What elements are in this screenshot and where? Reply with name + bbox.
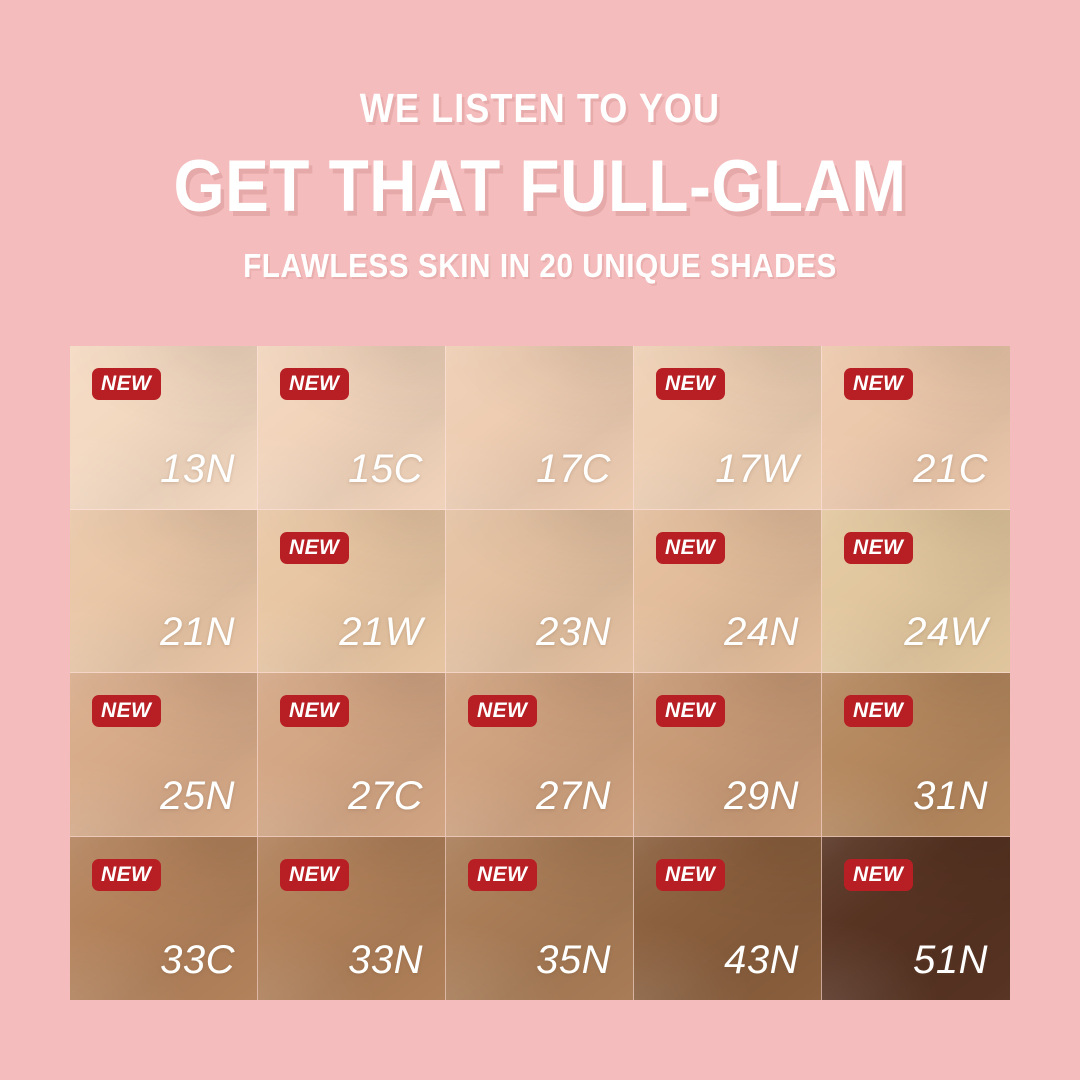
shade-swatch[interactable]: NEW25N	[70, 673, 258, 837]
shade-swatch[interactable]: NEW33N	[258, 837, 446, 1001]
new-badge: NEW	[656, 859, 725, 891]
shade-swatch[interactable]: NEW15C	[258, 346, 446, 510]
shade-swatch[interactable]: NEW51N	[822, 837, 1010, 1001]
shade-code-label: 24N	[724, 612, 799, 652]
new-badge: NEW	[280, 695, 349, 727]
page-title: GET THAT FULL-GLAM	[54, 150, 1026, 223]
shade-swatch[interactable]: NEW31N	[822, 673, 1010, 837]
new-badge: NEW	[468, 695, 537, 727]
shade-swatch[interactable]: NEW29N	[634, 673, 822, 837]
shade-swatch[interactable]: 21N	[70, 510, 258, 674]
shade-swatch[interactable]: NEW27N	[446, 673, 634, 837]
shade-swatch[interactable]: NEW21C	[822, 346, 1010, 510]
shade-code-label: 51N	[913, 940, 988, 980]
shade-swatch[interactable]: NEW24N	[634, 510, 822, 674]
shade-code-label: 33N	[348, 940, 423, 980]
shade-code-label: 25N	[160, 776, 235, 816]
shade-grid: NEW13NNEW15C17CNEW17WNEW21C21NNEW21W23NN…	[70, 346, 1010, 1000]
new-badge: NEW	[92, 368, 161, 400]
shade-swatch[interactable]: NEW13N	[70, 346, 258, 510]
shade-swatch[interactable]: NEW21W	[258, 510, 446, 674]
shade-code-label: 27C	[348, 776, 423, 816]
shade-code-label: 35N	[536, 940, 611, 980]
shade-code-label: 15C	[348, 449, 423, 489]
new-badge: NEW	[844, 368, 913, 400]
subtitle-text: FLAWLESS SKIN IN 20 UNIQUE SHADES	[54, 249, 1026, 282]
shade-code-label: 21C	[913, 449, 988, 489]
new-badge: NEW	[280, 859, 349, 891]
shade-code-label: 27N	[536, 776, 611, 816]
shade-code-label: 17C	[536, 449, 611, 489]
shade-code-label: 21W	[339, 612, 423, 652]
shade-code-label: 21N	[160, 612, 235, 652]
new-badge: NEW	[280, 368, 349, 400]
promo-header: WE LISTEN TO YOU GET THAT FULL-GLAM FLAW…	[0, 0, 1080, 282]
shade-code-label: 33C	[160, 940, 235, 980]
shade-swatch[interactable]: NEW33C	[70, 837, 258, 1001]
shade-code-label: 17W	[715, 449, 799, 489]
eyebrow-text: WE LISTEN TO YOU	[65, 88, 1015, 129]
shade-swatch[interactable]: 23N	[446, 510, 634, 674]
shade-swatch[interactable]: 17C	[446, 346, 634, 510]
shade-swatch[interactable]: NEW17W	[634, 346, 822, 510]
shade-swatch[interactable]: NEW35N	[446, 837, 634, 1001]
new-badge: NEW	[844, 695, 913, 727]
new-badge: NEW	[280, 532, 349, 564]
new-badge: NEW	[844, 532, 913, 564]
shade-code-label: 13N	[160, 449, 235, 489]
new-badge: NEW	[92, 859, 161, 891]
new-badge: NEW	[844, 859, 913, 891]
shade-code-label: 43N	[724, 940, 799, 980]
shade-code-label: 24W	[904, 612, 988, 652]
new-badge: NEW	[656, 695, 725, 727]
new-badge: NEW	[468, 859, 537, 891]
new-badge: NEW	[92, 695, 161, 727]
shade-swatch[interactable]: NEW43N	[634, 837, 822, 1001]
new-badge: NEW	[656, 532, 725, 564]
shade-swatch[interactable]: NEW27C	[258, 673, 446, 837]
shade-code-label: 31N	[913, 776, 988, 816]
shade-code-label: 23N	[536, 612, 611, 652]
shade-code-label: 29N	[724, 776, 799, 816]
new-badge: NEW	[656, 368, 725, 400]
shade-swatch[interactable]: NEW24W	[822, 510, 1010, 674]
